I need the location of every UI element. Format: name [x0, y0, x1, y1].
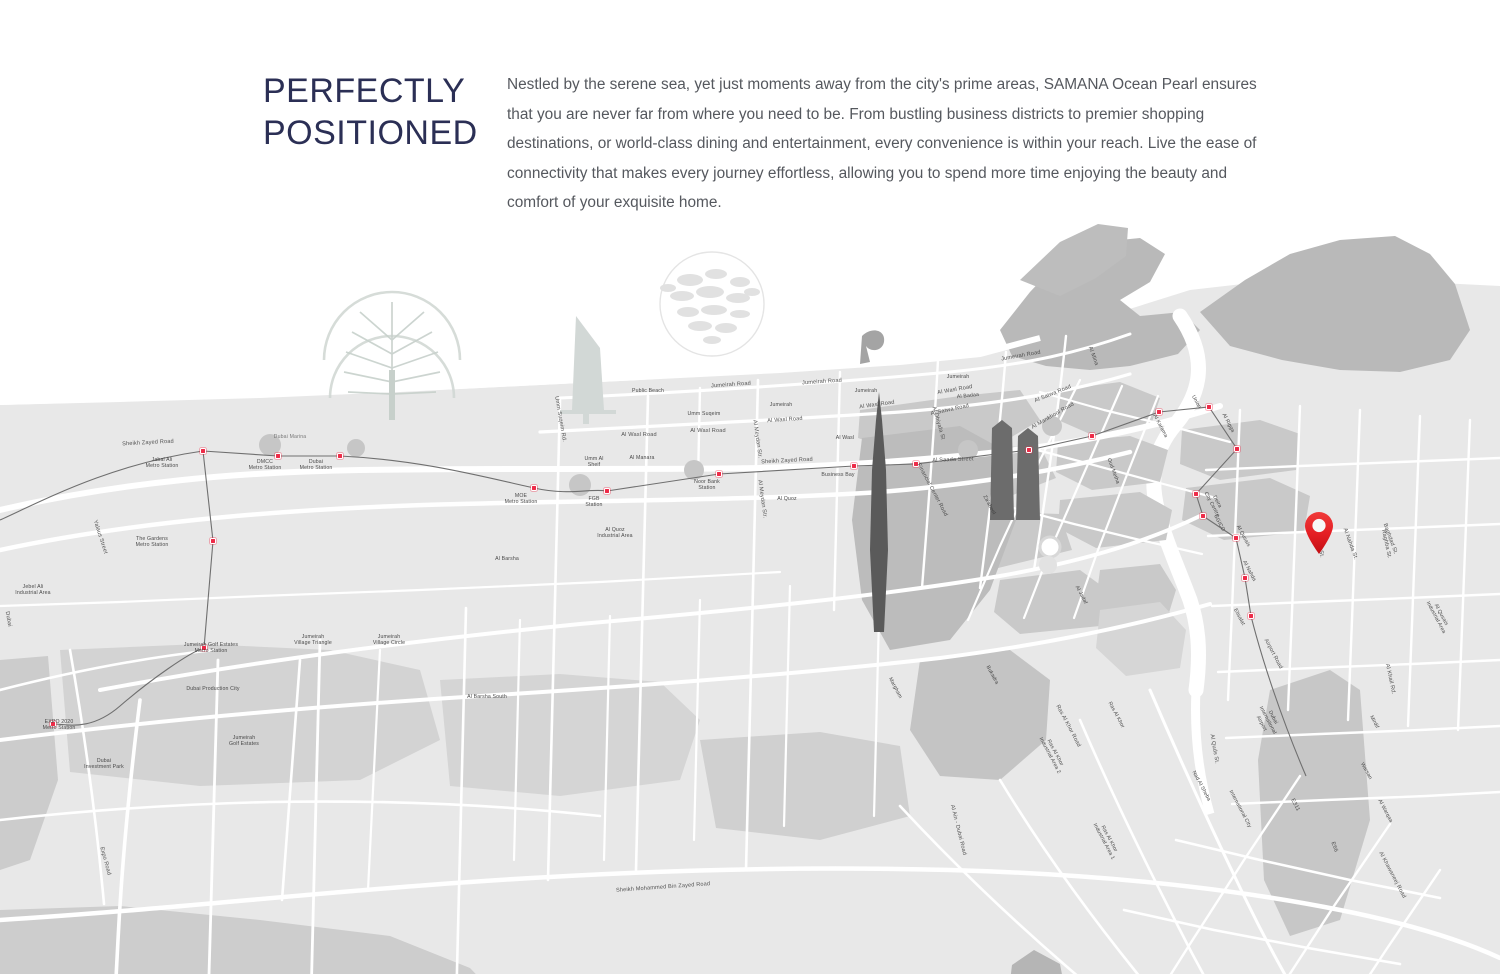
- metro-station-marker-moe[interactable]: [531, 485, 537, 491]
- metro-station-marker-dubai-station[interactable]: [337, 453, 343, 459]
- metro-station-marker-business-bay-east[interactable]: [913, 461, 919, 467]
- metro-station-marker-salah-al-din[interactable]: [1234, 446, 1240, 452]
- metro-station-marker-fgb[interactable]: [604, 488, 610, 494]
- map-graphic: [0, 220, 1500, 974]
- metro-station-marker-al-rigga[interactable]: [1206, 404, 1212, 410]
- metro-station-marker-union[interactable]: [1156, 409, 1162, 415]
- mid-grey-3: [700, 732, 910, 840]
- intro-paragraph: Nestled by the serene sea, yet just mome…: [507, 70, 1267, 218]
- metro-station-marker-al-jafiliya[interactable]: [1026, 447, 1032, 453]
- metro-station-marker-al-qusais[interactable]: [1233, 535, 1239, 541]
- header-section: PERFECTLY POSITIONED Nestled by the sere…: [0, 0, 1500, 230]
- metro-station-marker-deira-city-centre[interactable]: [1193, 491, 1199, 497]
- map-container[interactable]: Sheikh Zayed RoadJabal Ali Metro Station…: [0, 220, 1500, 974]
- palm-trunk: [389, 370, 395, 420]
- metro-station-marker-ggico[interactable]: [1200, 513, 1206, 519]
- metro-station-marker-jumeirah-golf-estates[interactable]: [201, 645, 207, 651]
- page-root: PERFECTLY POSITIONED Nestled by the sere…: [0, 0, 1500, 974]
- metro-station-marker-the-gardens[interactable]: [210, 538, 216, 544]
- metro-station-marker-al-karama[interactable]: [1089, 433, 1095, 439]
- metro-station-marker-business-bay-west[interactable]: [851, 463, 857, 469]
- metro-station-marker-noor-bank[interactable]: [716, 471, 722, 477]
- location-pin-icon[interactable]: [1303, 511, 1335, 555]
- metro-station-marker-etisalat[interactable]: [1248, 613, 1254, 619]
- metro-station-marker-expo-2020[interactable]: [50, 721, 56, 727]
- metro-station-marker-al-nahda[interactable]: [1242, 575, 1248, 581]
- metro-station-marker-dmcc[interactable]: [275, 453, 281, 459]
- metro-station-marker-jabal-ali[interactable]: [200, 448, 206, 454]
- mid-grey-2: [440, 674, 700, 796]
- page-title-line-2: POSITIONED: [263, 112, 493, 154]
- page-title-line-1: PERFECTLY: [263, 72, 465, 110]
- page-title: PERFECTLY POSITIONED: [263, 70, 493, 154]
